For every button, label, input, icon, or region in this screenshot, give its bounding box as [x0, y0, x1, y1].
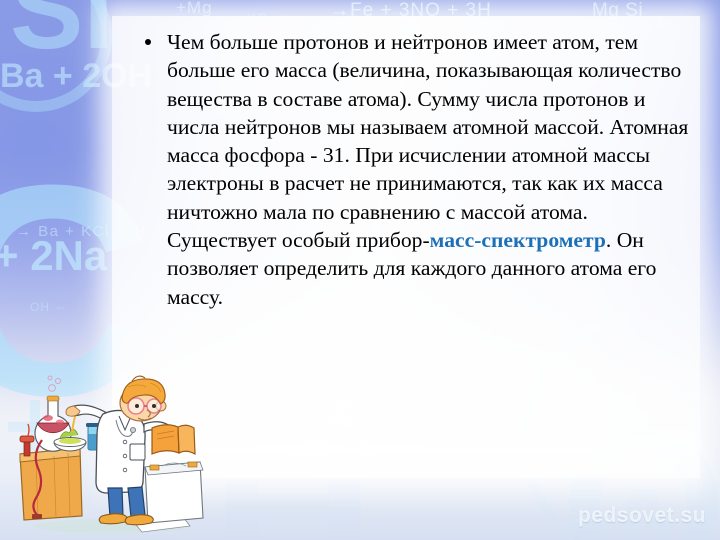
chemist-cartoon-illustration: [4, 370, 219, 538]
paragraph-part-1: Чем больше протонов и нейтронов имеет ат…: [167, 30, 688, 252]
bullet-dot-icon: [145, 39, 151, 45]
slide-body: Чем больше протонов и нейтронов имеет ат…: [140, 28, 692, 311]
list-item: Чем больше протонов и нейтронов имеет ат…: [140, 28, 692, 311]
slide-canvas: SI C H O A +Mg →Fe + 3NO + 3H Mg Si Mg2S…: [0, 0, 720, 540]
mass-spectrometer-highlight: масс-спектрометр: [430, 228, 606, 252]
formula-oh-small: OH ⇔: [30, 300, 67, 314]
pedsovet-watermark: pedsovet.su: [578, 504, 706, 528]
